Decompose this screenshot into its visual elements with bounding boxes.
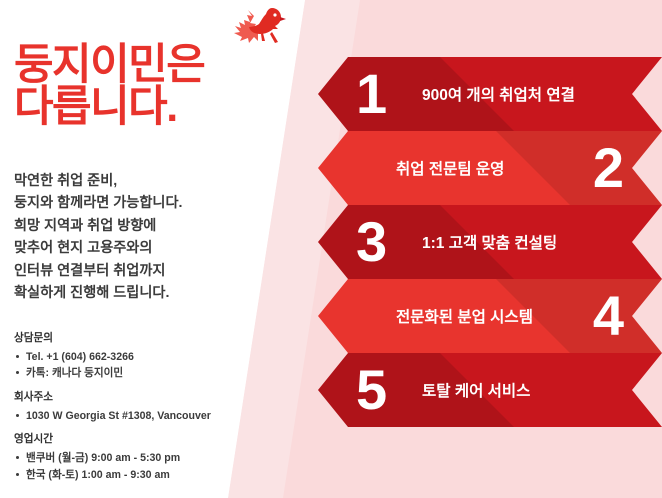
feature-ribbon-2[interactable]: 2 취업 전문팀 운영 <box>318 131 662 205</box>
feature-number: 3 <box>356 214 385 270</box>
feature-label: 900여 개의 취업처 연결 <box>422 83 575 105</box>
feature-label: 토탈 케어 서비스 <box>422 379 530 401</box>
feature-ribbon-3[interactable]: 3 1:1 고객 맞춤 컨설팅 <box>318 205 662 279</box>
feature-number: 4 <box>593 288 622 344</box>
feature-label: 1:1 고객 맞춤 컨설팅 <box>422 231 557 253</box>
feature-ribbon-list: 1 900여 개의 취업처 연결 2 취업 전문팀 운영 3 1:1 고객 맞춤… <box>0 0 662 498</box>
feature-ribbon-4[interactable]: 4 전문화된 분업 시스템 <box>318 279 662 353</box>
feature-ribbon-1[interactable]: 1 900여 개의 취업처 연결 <box>318 57 662 131</box>
feature-label: 취업 전문팀 운영 <box>396 157 504 179</box>
feature-number: 2 <box>593 140 622 196</box>
feature-ribbon-5[interactable]: 5 토탈 케어 서비스 <box>318 353 662 427</box>
poster-canvas: 둥지이민은 다릅니다. 막연한 취업 준비, 둥지와 함께라면 가능합니다. 희… <box>0 0 662 498</box>
feature-label: 전문화된 분업 시스템 <box>396 305 533 327</box>
feature-number: 1 <box>356 66 385 122</box>
feature-number: 5 <box>356 362 385 418</box>
